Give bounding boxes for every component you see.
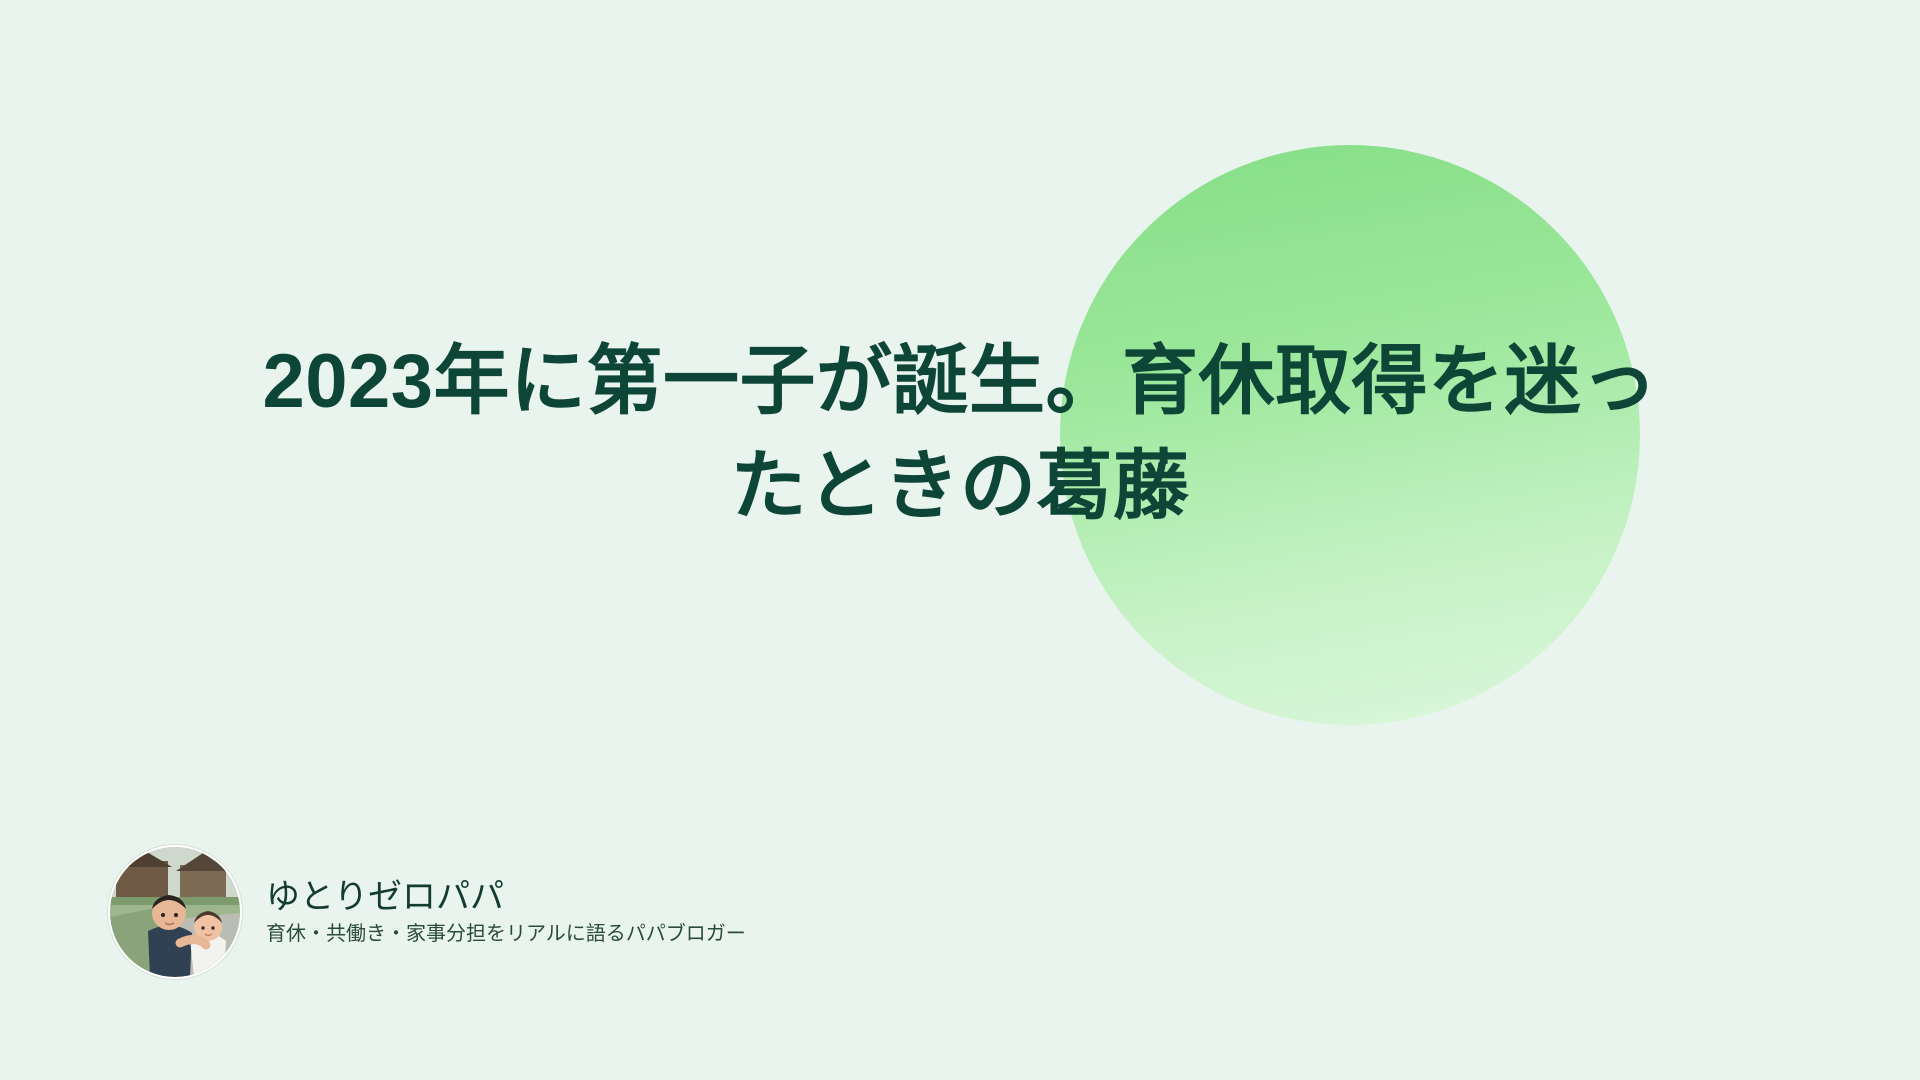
page-title: 2023年に第一子が誕生。育休取得を迷っ たときの葛藤 — [170, 330, 1750, 540]
slide-canvas: 2023年に第一子が誕生。育休取得を迷っ たときの葛藤 — [0, 0, 1920, 1080]
author-name: ゆとりゼロパパ — [266, 880, 746, 914]
avatar — [108, 845, 242, 979]
author-description: 育休・共働き・家事分担をリアルに語るパパブロガー — [266, 924, 746, 944]
author-text: ゆとりゼロパパ 育休・共働き・家事分担をリアルに語るパパブロガー — [266, 880, 746, 944]
author-block: ゆとりゼロパパ 育休・共働き・家事分担をリアルに語るパパブロガー — [108, 845, 746, 979]
